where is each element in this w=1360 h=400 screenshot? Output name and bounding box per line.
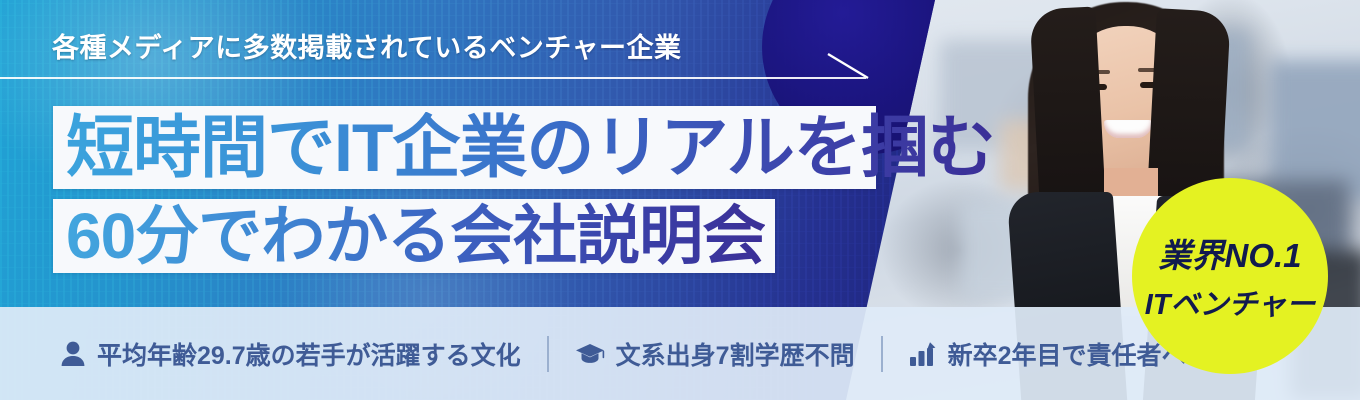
badge-line-1: 業界NO.1 — [1158, 229, 1301, 277]
badge-line-2: ITベンチャー — [1145, 281, 1315, 323]
fact-divider-2 — [881, 336, 883, 372]
recruitment-banner: 各種メディアに多数掲載されているベンチャー企業 短時間でIT企業のリアルを掴む … — [0, 0, 1360, 400]
underline-arrow-tick — [826, 52, 870, 80]
fact-item-responsibility: 新卒2年目で責任者へ — [909, 336, 1187, 372]
person-icon — [60, 340, 86, 368]
fact-item-humanities: 文系出身7割学歴不問 — [575, 336, 855, 372]
fact-divider-1 — [547, 336, 549, 372]
graduation-cap-icon — [575, 341, 605, 367]
fact-text-humanities: 文系出身7割学歴不問 — [616, 336, 855, 372]
fact-text-responsibility: 新卒2年目で責任者へ — [948, 336, 1187, 372]
bar-chart-icon — [909, 341, 937, 367]
diagonal-tick-icon — [826, 52, 870, 82]
eyebrow-text: 各種メディアに多数掲載されているベンチャー企業 — [52, 26, 682, 65]
fact-text-average-age: 平均年齢29.7歳の若手が活躍する文化 — [97, 336, 521, 372]
industry-no1-badge: 業界NO.1 ITベンチャー — [1132, 178, 1328, 374]
eyebrow-underline — [0, 77, 866, 79]
fact-item-average-age: 平均年齢29.7歳の若手が活躍する文化 — [60, 336, 521, 372]
headline-line-2: 60分でわかる会社説明会 — [66, 202, 765, 270]
facts-list: 平均年齢29.7歳の若手が活躍する文化 文系出身7割学歴不問 — [60, 307, 1186, 400]
headline-line-1: 短時間でIT企業のリアルを掴む — [66, 112, 995, 184]
